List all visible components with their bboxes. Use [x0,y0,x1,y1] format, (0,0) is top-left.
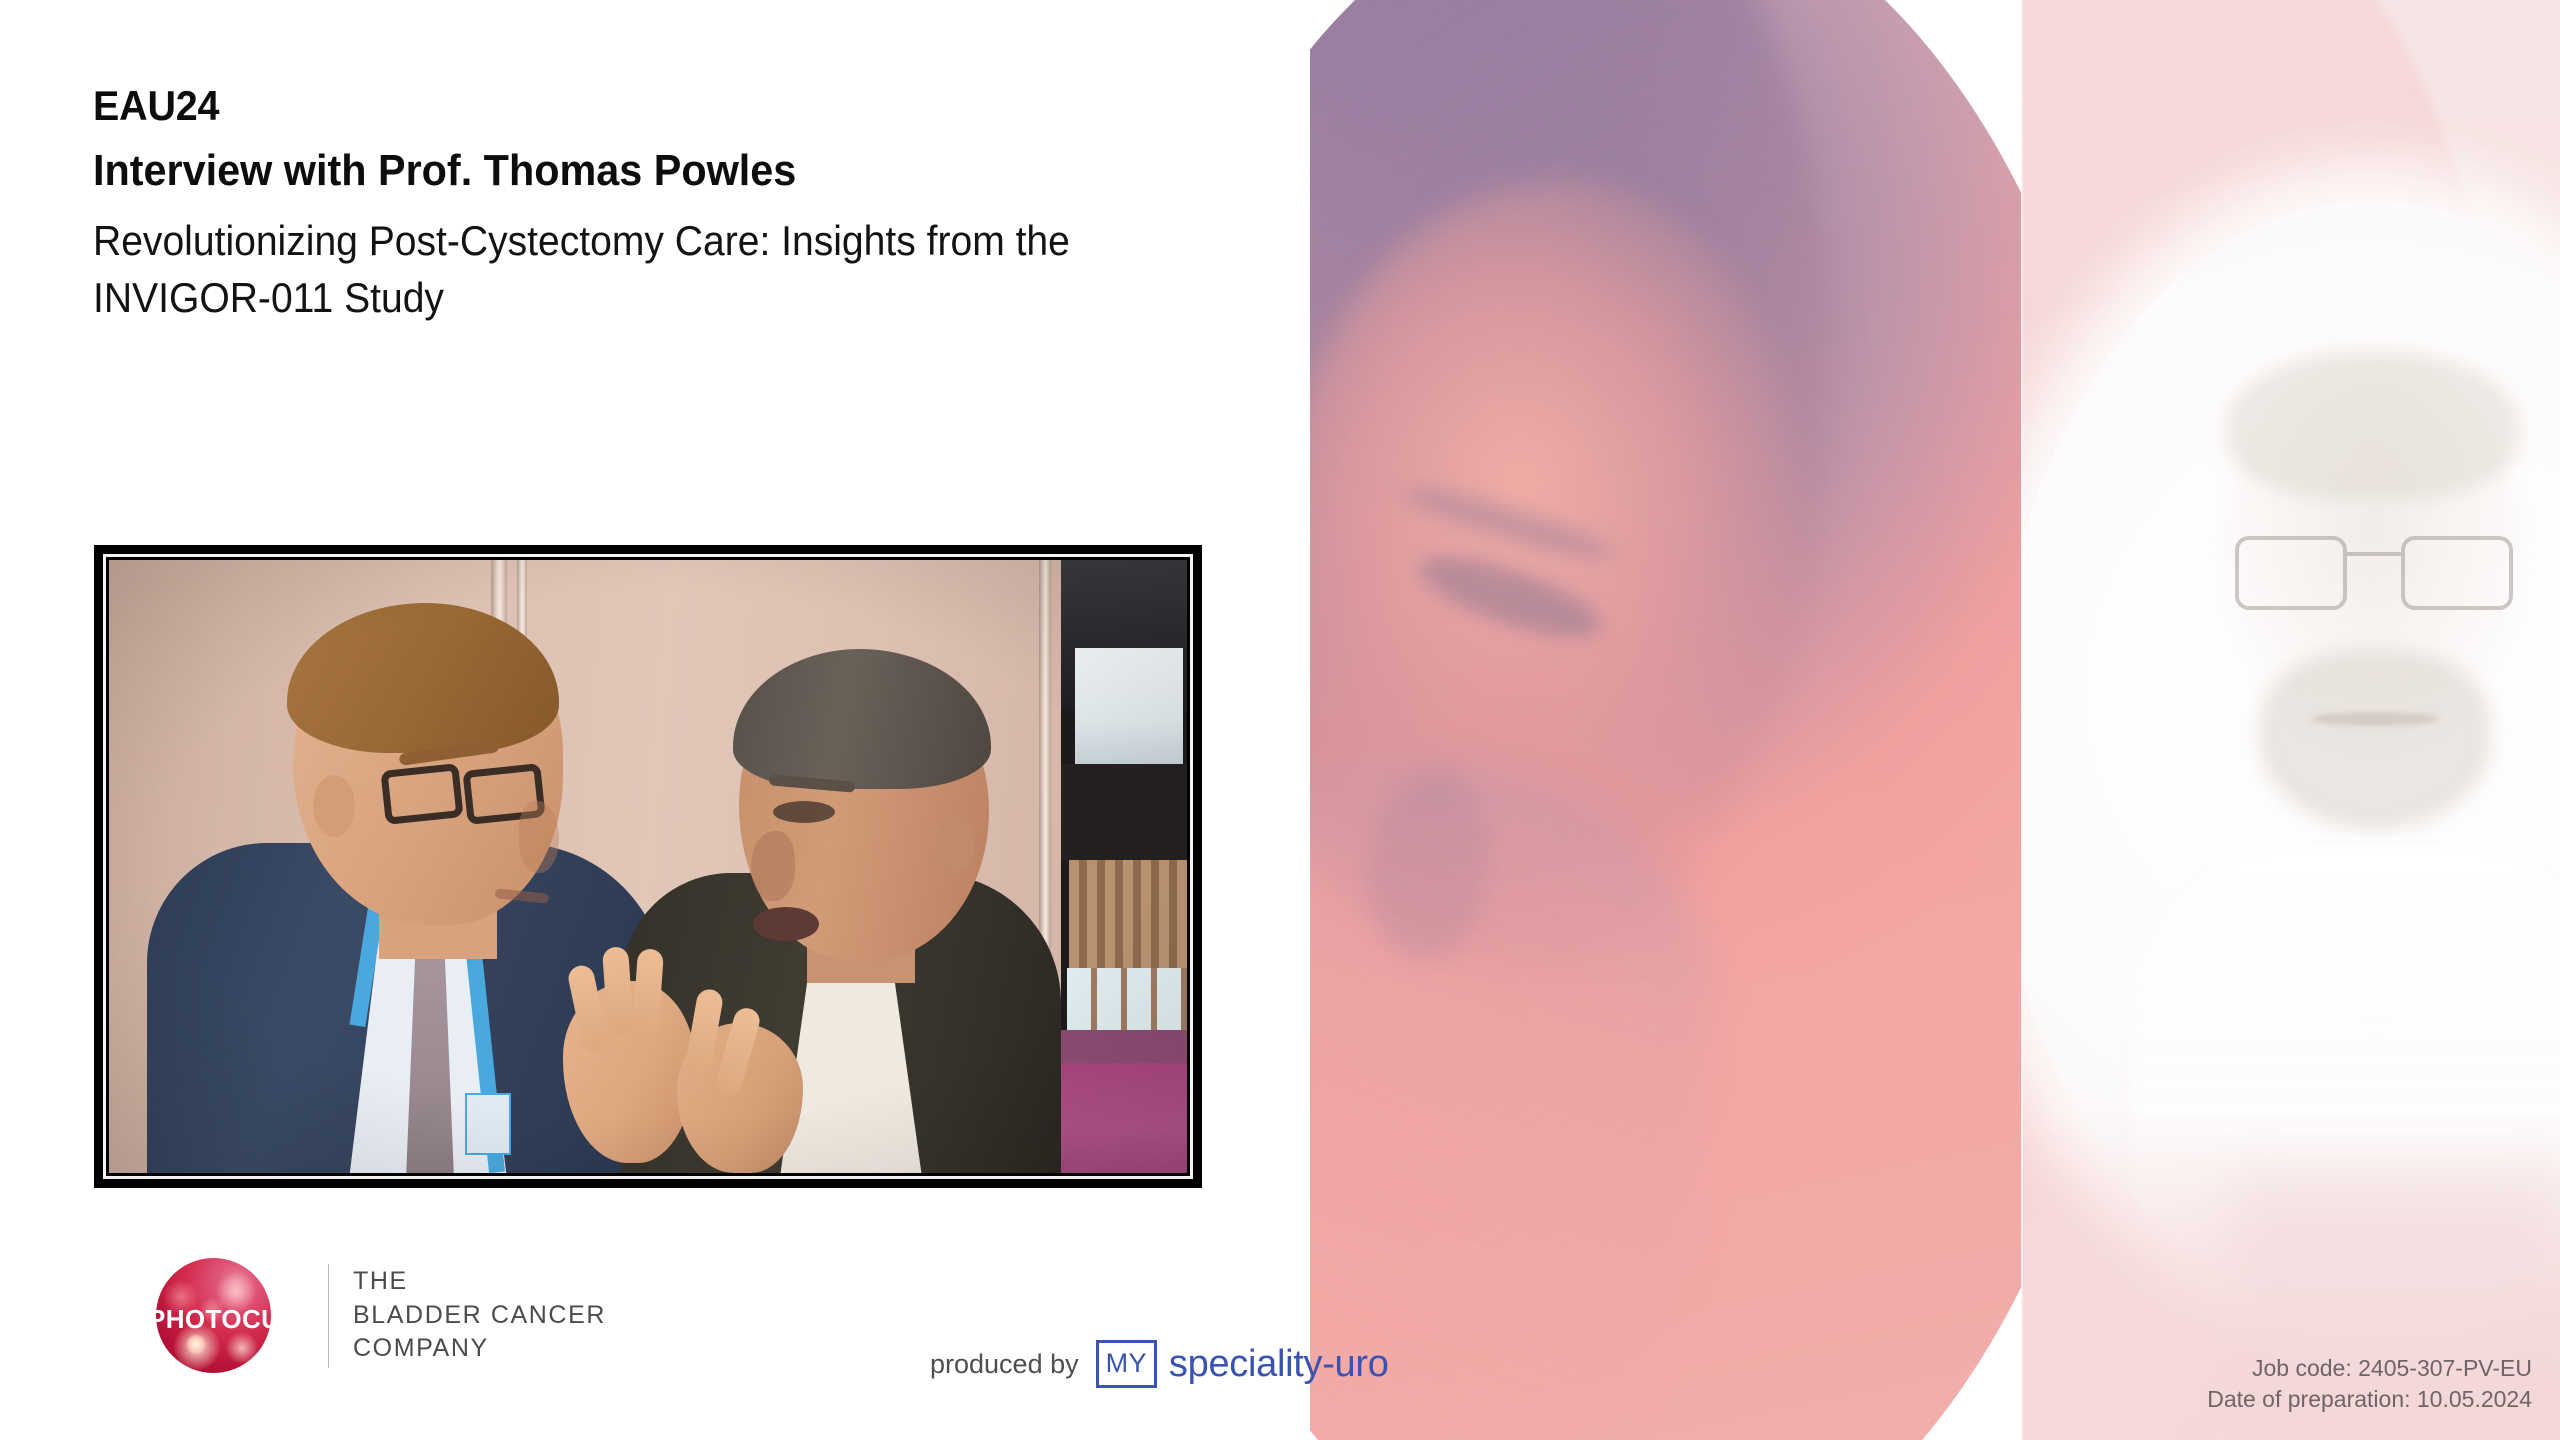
photocure-wordmark: PHOTOCURE® [148,1304,306,1335]
job-code-text: Job code: 2405-307-PV-EU [2207,1353,2532,1385]
photocure-sphere-mark: PHOTOCURE® [148,1258,306,1373]
thumbnail-inner-border [103,554,1193,1179]
photocure-brand-text: PHOTOCURE [148,1304,317,1334]
speaker-ear [937,815,975,873]
corridor-window [1075,648,1183,764]
logo-divider [328,1264,329,1368]
interviewer-hair [287,603,559,753]
interviewer-glasses-lens-left [380,763,463,825]
tagline-line-3: COMPANY [353,1332,606,1366]
photocure-logo: PHOTOCURE® THE BLADDER CANCER COMPANY [148,1258,606,1373]
photocure-tagline: THE BLADDER CANCER COMPANY [353,1265,606,1366]
woman-ellipse-image [1310,0,2021,1440]
speaker-hair [733,649,991,789]
registered-mark: ® [317,1305,328,1321]
page-title: Interview with Prof. Thomas Powles [93,145,1202,198]
man-beard-shape [2259,650,2491,830]
interviewer-nose [519,801,559,873]
produced-by-label: produced by [930,1349,1079,1380]
speaker-mouth [753,907,819,941]
headline-block: EAU24 Interview with Prof. Thomas Powles… [93,82,1273,326]
interviewer-badge [465,1093,511,1155]
my-badge-icon: MY [1096,1340,1157,1388]
interviewer-glasses [383,767,543,821]
sphere-glow-3 [226,1332,258,1364]
sphere-core-glow [186,1334,206,1354]
congress-eyebrow: EAU24 [93,82,1202,131]
speaker-eye [773,801,835,823]
thumbnail-photo [109,560,1187,1173]
speaker-nose [751,831,795,901]
glasses-right-lens [2401,536,2513,610]
glasses-left-lens [2235,536,2347,610]
woman-photo-band [1310,0,2021,1440]
date-of-preparation-text: Date of preparation: 10.05.2024 [2207,1384,2532,1416]
interviewer-ear [313,775,355,837]
man-photo-band [2021,0,2560,1440]
woman-shoulder-shape [1310,760,1710,1440]
speciality-uro-wordmark: speciality-uro [1169,1343,1389,1386]
produced-by-block: produced by MY speciality-uro [930,1340,1389,1388]
panel-seam-line [2021,0,2023,1440]
man-glasses-shape [2235,536,2513,610]
slide-canvas: Job code: 2405-307-PV-EU Date of prepara… [0,0,2560,1440]
page-subtitle: Revolutionizing Post-Cystectomy Care: In… [93,212,1190,326]
man-hair-shape [2227,350,2519,500]
footer-jobcode-block: Job code: 2405-307-PV-EU Date of prepara… [2207,1353,2532,1416]
glasses-bridge [2347,552,2401,556]
tagline-line-1: THE [353,1265,606,1299]
video-thumbnail[interactable] [94,545,1202,1188]
tagline-line-2: BLADDER CANCER [353,1299,606,1333]
speaker-figure [621,633,1091,1173]
decorative-photo-panel [1310,0,2560,1440]
man-mouth-shape [2311,712,2439,726]
